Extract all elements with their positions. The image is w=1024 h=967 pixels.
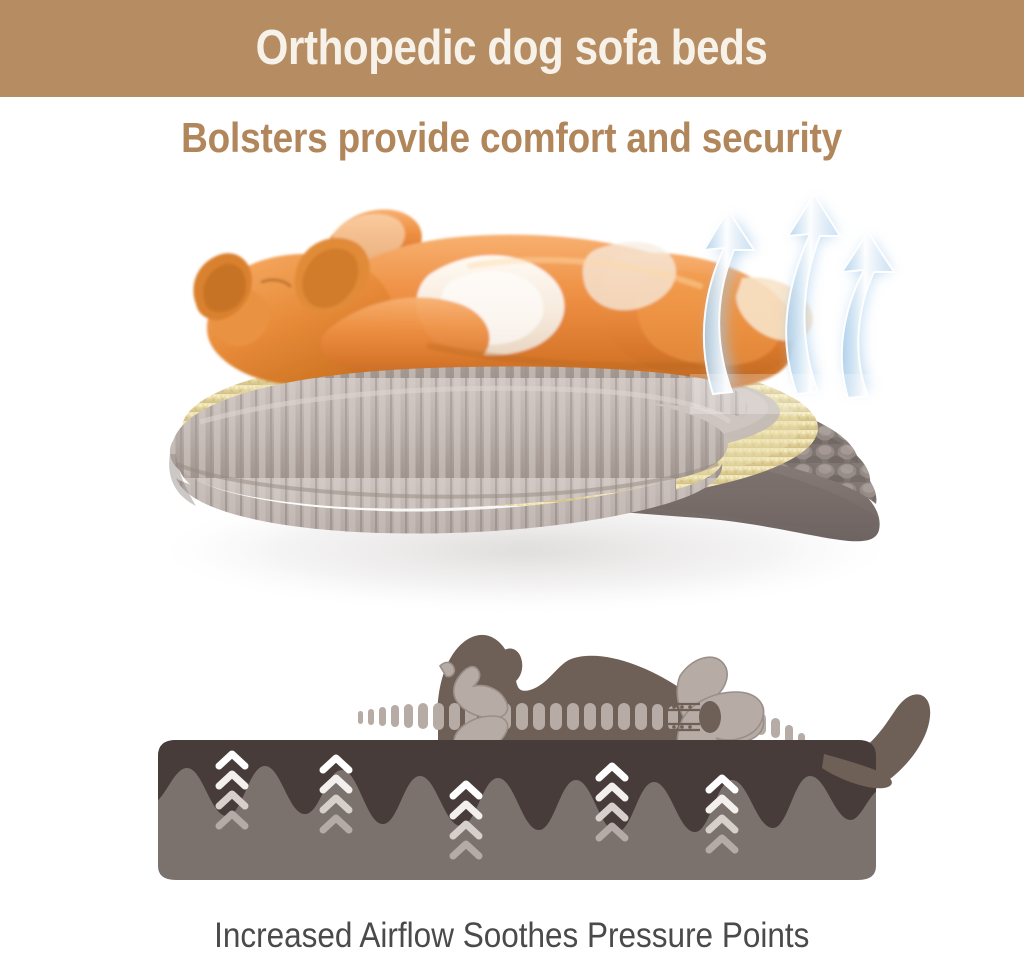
subtitle-row: Bolsters provide comfort and security bbox=[0, 100, 1024, 176]
airflow-arrow bbox=[786, 194, 840, 394]
airflow-pressure-diagram bbox=[0, 618, 1024, 903]
caption-row: Increased Airflow Soothes Pressure Point… bbox=[0, 903, 1024, 967]
eggcrate-foam-block bbox=[150, 736, 884, 880]
airflow-arrow bbox=[842, 232, 894, 398]
caption: Increased Airflow Soothes Pressure Point… bbox=[214, 918, 809, 953]
header-banner: Orthopedic dog sofa beds bbox=[0, 0, 1024, 97]
dog-bed-illustration bbox=[0, 178, 1024, 618]
cross-section-diagram bbox=[0, 618, 1024, 903]
hero-product-photo bbox=[0, 178, 1024, 618]
page-title: Orthopedic dog sofa beds bbox=[256, 24, 768, 73]
subtitle: Bolsters provide comfort and security bbox=[182, 117, 843, 159]
